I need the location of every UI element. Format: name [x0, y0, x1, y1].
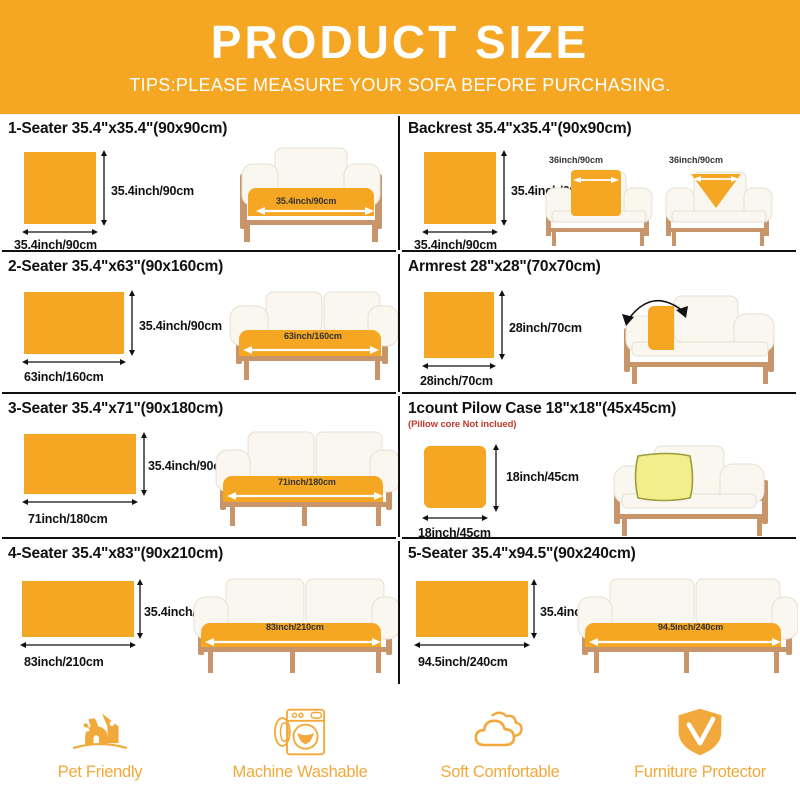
feature-label: Machine Washable	[233, 763, 368, 782]
section-two-seater: 2-Seater 35.4"x63"(90x160cm) 35.4inch/90…	[0, 252, 400, 394]
fabric-swatch	[24, 292, 124, 354]
swatch-height-label: 18inch/45cm	[506, 470, 579, 484]
section-title: Armrest 28"x28"(70x70cm)	[408, 258, 800, 276]
feature-label: Furniture Protector	[634, 763, 766, 782]
fabric-swatch	[24, 434, 136, 494]
section-title: Backrest 35.4"x35.4"(90x90cm)	[408, 120, 800, 138]
swatch-height-label: 35.4inch/90cm	[111, 184, 194, 198]
sofa-seat-label: 94.5inch/240cm	[658, 622, 723, 632]
section-three-seater: 3-Seater 35.4"x71"(90x180cm) 35.4inch/90…	[0, 394, 400, 539]
furniture-protector-icon	[670, 706, 730, 758]
fabric-swatch	[424, 292, 494, 358]
fabric-swatch	[424, 152, 496, 224]
swatch-width-label: 83inch/210cm	[24, 655, 104, 669]
sofa-seat-label: 71inch/180cm	[278, 477, 336, 487]
swatch-width-label: 18inch/45cm	[418, 526, 491, 539]
swatch-height-label: 35.4inch/90cm	[139, 319, 222, 333]
size-grid: 1-Seater 35.4"x35.4"(90x90cm) 35.4inch/9…	[0, 114, 800, 686]
armrest-cover	[648, 306, 674, 350]
feature-label: Soft Comfortable	[440, 763, 559, 782]
section-title: 5-Seater 35.4"x94.5"(90x240cm)	[408, 545, 800, 563]
feature-pet-friendly: Pet Friendly	[0, 706, 200, 782]
pillow-sofa-illustration	[600, 436, 800, 538]
machine-washable-icon	[270, 706, 330, 758]
armrest-sofa-illustration	[608, 284, 798, 388]
fabric-swatch	[22, 581, 134, 637]
feature-soft-comfortable: Soft Comfortable	[400, 706, 600, 782]
method-b-top-label: 36inch/90cm	[669, 155, 723, 165]
product-size-infographic: PRODUCT SIZE TIPS:PLEASE MEASURE YOUR SO…	[0, 0, 800, 800]
backrest-method-a-illustration	[538, 166, 658, 250]
feature-machine-washable: Machine Washable	[200, 706, 400, 782]
section-title: 1count Pilow Case 18"x18"(45x45cm)	[408, 400, 800, 418]
section-four-seater: 4-Seater 35.4"x83"(90x210cm) 35.4inch/90…	[0, 539, 400, 686]
swatch-width-label: 94.5inch/240cm	[418, 655, 508, 669]
soft-comfortable-icon	[470, 706, 530, 758]
sofa-seat-label: 35.4inch/90cm	[276, 196, 336, 206]
feature-label: Pet Friendly	[58, 763, 142, 782]
swatch-width-label: 35.4inch/90cm	[14, 238, 97, 252]
header-banner: PRODUCT SIZE TIPS:PLEASE MEASURE YOUR SO…	[0, 0, 800, 114]
one-seater-swatch-diagram	[12, 146, 232, 252]
swatch-height-label: 28inch/70cm	[509, 321, 582, 335]
pet-friendly-icon	[70, 706, 130, 758]
section-pillow-case: 1count Pilow Case 18"x18"(45x45cm) (Pill…	[400, 394, 800, 539]
sofa-seat-label: 83inch/210cm	[266, 622, 324, 632]
backrest-cover-rect	[571, 170, 621, 216]
backrest-method-b-illustration	[658, 166, 778, 250]
section-title: 4-Seater 35.4"x83"(90x210cm)	[8, 545, 400, 563]
section-note: (Pillow core Not inclued)	[408, 419, 800, 430]
feature-furniture-protector: Furniture Protector	[600, 706, 800, 782]
decorative-pillow	[636, 454, 693, 501]
section-title: 3-Seater 35.4"x71"(90x180cm)	[8, 400, 400, 418]
swatch-width-label: 71inch/180cm	[28, 512, 108, 526]
feature-row: Pet Friendly Machine Washable Soft Comf	[0, 688, 800, 800]
fabric-swatch	[416, 581, 528, 637]
swatch-width-label: 28inch/70cm	[420, 374, 493, 388]
swatch-width-label: 63inch/160cm	[24, 370, 104, 384]
section-backrest: Backrest 35.4"x35.4"(90x90cm) 35.4inch/9…	[400, 114, 800, 252]
pillow-swatch-dimensions	[408, 434, 608, 538]
header-subtitle: TIPS:PLEASE MEASURE YOUR SOFA BEFORE PUR…	[129, 75, 670, 96]
sofa-seat-label: 63inch/160cm	[284, 331, 342, 341]
section-title: 2-Seater 35.4"x63"(90x160cm)	[8, 258, 400, 276]
dimension-arrows	[422, 444, 499, 521]
swatch-width-label: 35.4inch/90cm	[414, 238, 497, 252]
page-title: PRODUCT SIZE	[211, 18, 589, 66]
section-armrest: Armrest 28"x28"(70x70cm) 28inch/70cm 28i…	[400, 252, 800, 394]
section-five-seater: 5-Seater 35.4"x94.5"(90x240cm) 35.4inch/…	[400, 539, 800, 686]
fabric-swatch	[24, 152, 96, 224]
section-title: 1-Seater 35.4"x35.4"(90x90cm)	[8, 120, 400, 138]
section-one-seater: 1-Seater 35.4"x35.4"(90x90cm) 35.4inch/9…	[0, 114, 400, 252]
method-a-top-label: 36inch/90cm	[549, 155, 603, 165]
